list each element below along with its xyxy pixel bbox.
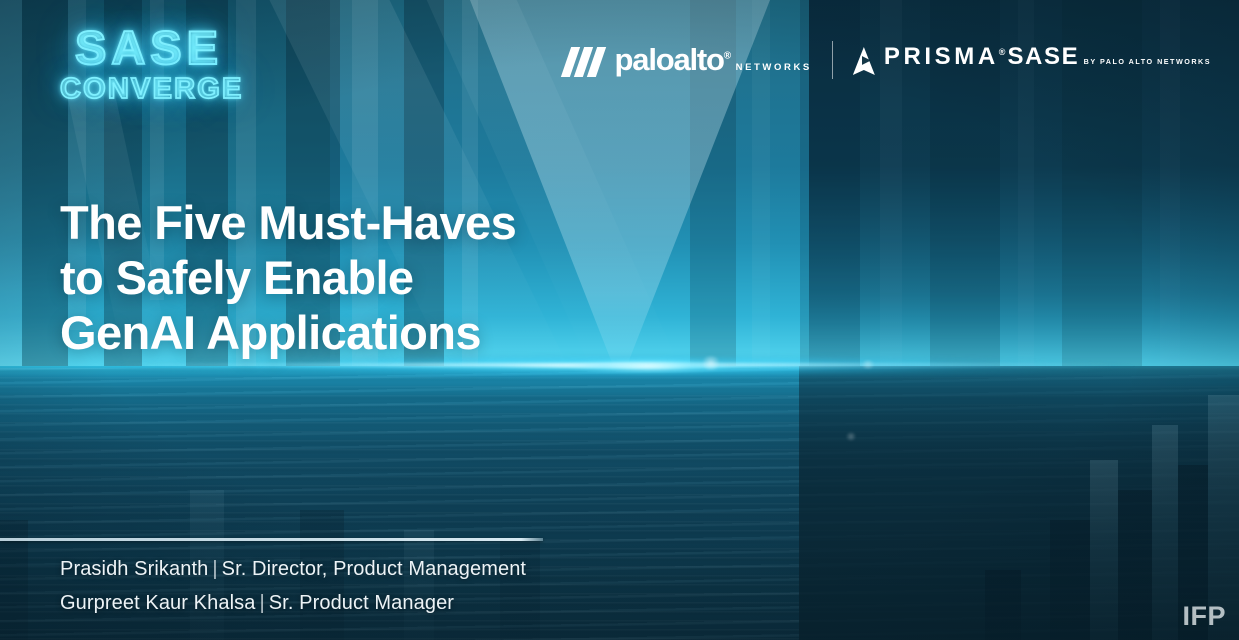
speaker-separator: | — [208, 558, 221, 580]
ifp-watermark: IFP — [1182, 601, 1226, 632]
title-slide: SASE CONVERGE paloalto® NETWORKS PRISMA®… — [0, 0, 1239, 640]
prisma-subtitle: BY PALO ALTO NETWORKS — [1084, 57, 1211, 66]
pillar-slab — [0, 0, 22, 368]
reflected-pillar — [1050, 520, 1090, 640]
prisma-sase-logo: PRISMA®SASE BY PALO ALTO NETWORKS — [853, 45, 1211, 75]
lens-flare-dot — [845, 432, 857, 441]
water-right-tint — [799, 366, 1239, 640]
speaker-separator: | — [255, 592, 268, 614]
speaker-role: Sr. Product Manager — [269, 592, 454, 614]
reflected-pillar — [1118, 490, 1152, 640]
prisma-product-name: SASE — [1007, 43, 1079, 70]
brand-divider — [832, 41, 833, 79]
horizon-core-light — [560, 358, 730, 374]
speaker-name: Gurpreet Kaur Khalsa — [60, 592, 255, 614]
brand-lockup: paloalto® NETWORKS PRISMA®SASE BY PALO A… — [566, 37, 1211, 83]
lens-flare-streak — [120, 363, 1119, 367]
lens-flare-dot — [700, 356, 722, 370]
paloalto-slashes-icon — [566, 47, 606, 77]
speaker-name: Prasidh Srikanth — [60, 558, 208, 580]
paloalto-wordmark-block: paloalto® NETWORKS — [615, 44, 812, 75]
paloalto-wordmark: paloalto® — [615, 44, 732, 75]
prisma-wordmark: PRISMA®SASE — [884, 43, 1079, 70]
paloalto-networks-logo: paloalto® NETWORKS — [566, 44, 812, 77]
reflected-pillar — [1152, 425, 1178, 640]
speakers-divider-rule — [0, 538, 543, 541]
page-title: The Five Must-Haves to Safely Enable Gen… — [60, 196, 516, 361]
registered-mark: ® — [999, 47, 1006, 57]
sase-converge-logo: SASE CONVERGE — [60, 24, 238, 104]
speaker-row: Prasidh Srikanth|Sr. Director, Product M… — [60, 553, 526, 587]
speakers-list: Prasidh Srikanth|Sr. Director, Product M… — [60, 553, 526, 620]
paloalto-subtitle: NETWORKS — [736, 62, 812, 73]
reflected-pillar — [985, 570, 1021, 640]
reflected-pillar — [1090, 460, 1118, 640]
registered-mark: ® — [724, 50, 731, 61]
sase-logo-line2: CONVERGE — [60, 75, 238, 104]
prisma-arrow-icon — [853, 47, 875, 75]
lens-flare-dot — [860, 360, 876, 369]
speaker-row: Gurpreet Kaur Khalsa|Sr. Product Manager — [60, 587, 526, 621]
sase-logo-line1: SASE — [60, 24, 238, 71]
prisma-wordmark-block: PRISMA®SASE BY PALO ALTO NETWORKS — [884, 45, 1211, 69]
speaker-role: Sr. Director, Product Management — [222, 558, 526, 580]
